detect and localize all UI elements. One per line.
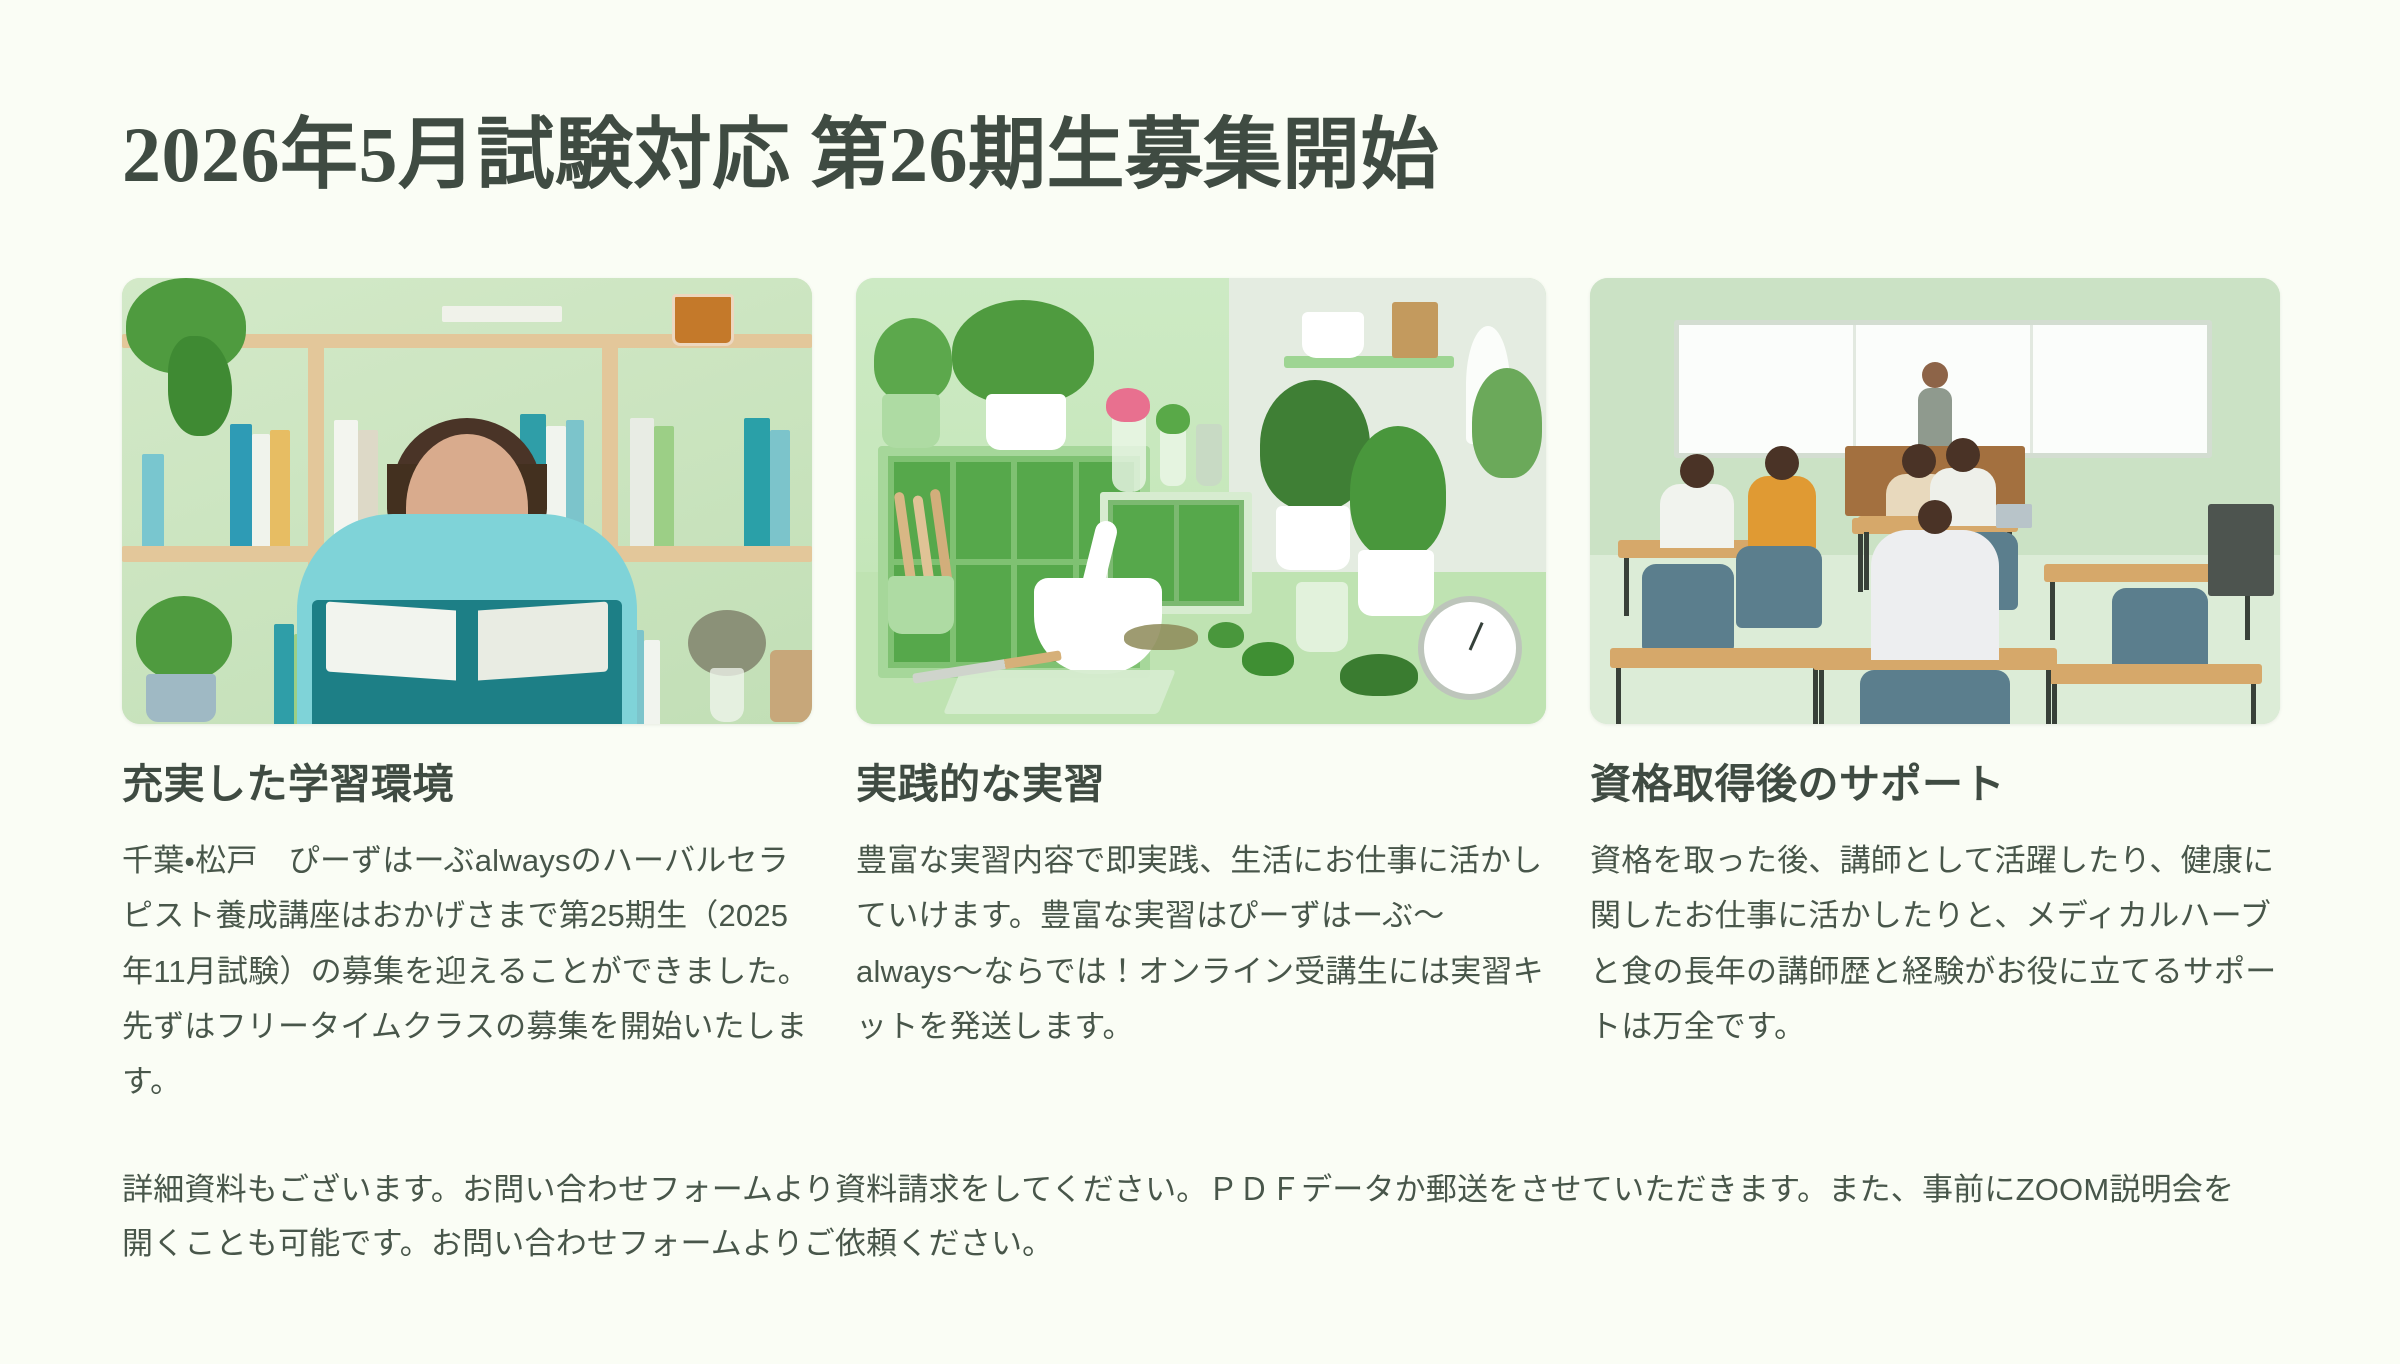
student <box>1660 484 1734 548</box>
utensil-crock <box>1392 302 1438 358</box>
lavender-plant <box>874 318 952 402</box>
practical-training-photo <box>856 278 1546 724</box>
mint-pot <box>882 394 940 448</box>
footer-note: 詳細資料もございます。お問い合わせフォームより資料請求をしてください。ＰＤＦデー… <box>122 1163 2262 1272</box>
student-front <box>1871 530 1999 660</box>
tarragon-plant <box>1350 426 1446 558</box>
side-cabinet <box>2208 504 2274 596</box>
student-desk <box>1610 648 1824 668</box>
card-title: 資格取得後のサポート <box>1590 760 2280 809</box>
card-title: 実践的な実習 <box>856 760 1546 809</box>
utensil-cup <box>888 576 954 634</box>
page-title: 2026年5月試験対応 第26期生募集開始 <box>122 110 1439 200</box>
chair <box>1736 546 1822 628</box>
card-body: 資格を取った後、講師として活躍したり、健康に関したお仕事に活かしたりと、メディカ… <box>1590 833 2280 1054</box>
wooden-utensils <box>890 483 975 588</box>
dried-flowers <box>688 610 766 676</box>
feature-card-study-environment: 充実した学習環境 千葉・松戸 ぴーずはーぶalwaysのハーバルセラピスト養成講… <box>122 278 812 1109</box>
dried-herb-pile <box>1124 624 1198 650</box>
rosemary-sprig <box>1340 654 1418 696</box>
card-title: 充実した学習環境 <box>122 760 812 809</box>
kitchen-scale <box>1418 596 1522 700</box>
chair-front <box>1860 670 2010 724</box>
chair <box>1642 564 1734 652</box>
post-certification-support-photo <box>1590 278 2280 724</box>
card-body: 豊富な実習内容で即実践、生活にお仕事に活かしていけます。豊富な実習はぴーずはーぶ… <box>856 833 1546 1054</box>
student <box>1748 476 1816 548</box>
card-body: 千葉・松戸 ぴーずはーぶalwaysのハーバルセラピスト養成講座はおかげさまで第… <box>122 833 812 1109</box>
white-jar <box>1302 312 1364 358</box>
potted-plant <box>136 596 232 680</box>
laptop <box>1996 504 2032 528</box>
landing-page: 2026年5月試験対応 第26期生募集開始 <box>0 0 2400 1364</box>
open-book <box>312 600 622 724</box>
feature-card-support: 資格取得後のサポート 資格を取った後、講師として活躍したり、健康に関したお仕事に… <box>1590 278 2280 1109</box>
stacked-books <box>442 306 562 322</box>
instructor <box>1918 388 1952 450</box>
pink-flowers <box>1106 388 1150 422</box>
glass-jar <box>1296 582 1348 652</box>
feature-card-practical-training: 実践的な実習 豊富な実習内容で即実践、生活にお仕事に活かしていけます。豊富な実習… <box>856 278 1546 1109</box>
lavender-sprig <box>1472 368 1542 478</box>
bud-vase <box>1160 428 1186 486</box>
mint-leaves <box>1242 642 1294 676</box>
white-pot <box>986 394 1066 450</box>
basket <box>770 650 812 722</box>
flower-vase <box>1112 414 1146 492</box>
cutting-board <box>943 670 1176 714</box>
basil-plant <box>952 300 1094 404</box>
student-desk <box>2046 664 2262 684</box>
study-environment-photo <box>122 278 812 724</box>
tea-cup <box>672 294 734 346</box>
feature-card-grid: 充実した学習環境 千葉・松戸 ぴーずはーぶalwaysのハーバルセラピスト養成講… <box>122 278 2282 1109</box>
glass-vase <box>710 668 744 722</box>
glass-bottle <box>1196 424 1222 486</box>
plant-pot <box>146 674 216 722</box>
